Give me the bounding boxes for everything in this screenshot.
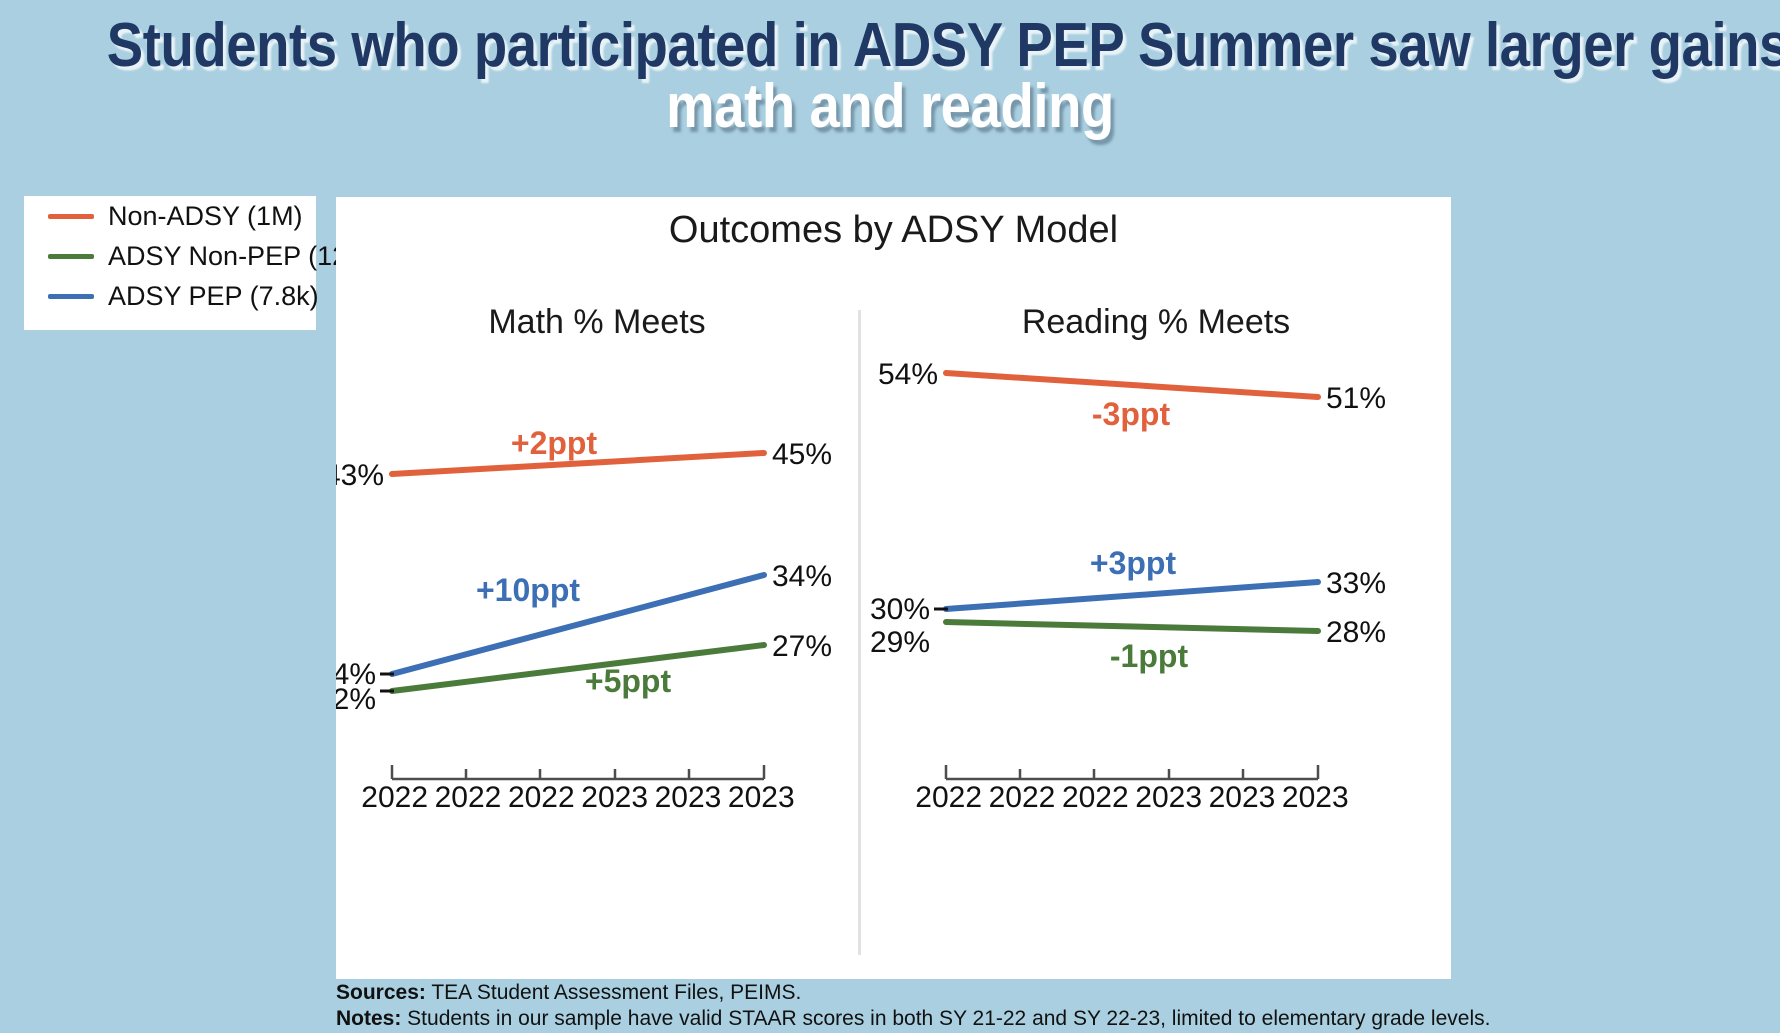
math-xtick-5: 2023	[725, 781, 798, 815]
reading-label-start-non-adsy: 54%	[878, 358, 938, 391]
reading-xtick-0: 2022	[912, 781, 985, 815]
legend-color-swatch-non-adsy	[48, 214, 94, 219]
math-label-start-non-adsy: 43%	[336, 459, 384, 492]
reading-plot-svg: 54% 51% 30% 33% 29% 28% -3ppt +3ppt -1pp…	[861, 197, 1451, 979]
math-delta-non-adsy: +2ppt	[511, 425, 598, 461]
reading-xtick-2: 2022	[1059, 781, 1132, 815]
reading-line-adsy-non-pep	[946, 622, 1318, 631]
reading-label-start-adsy-pep: 30%	[870, 593, 930, 626]
reading-line-adsy-pep	[946, 582, 1318, 609]
reading-axis-bracket	[946, 765, 1318, 779]
reading-label-end-adsy-pep: 33%	[1326, 567, 1386, 600]
reading-delta-adsy-pep: +3ppt	[1090, 545, 1177, 581]
math-xtick-4: 2023	[651, 781, 724, 815]
footnotes: Sources: TEA Student Assessment Files, P…	[336, 980, 1636, 1033]
reading-xtick-3: 2023	[1132, 781, 1205, 815]
math-label-end-adsy-pep: 34%	[772, 560, 832, 593]
legend-color-swatch-adsy-pep	[48, 294, 94, 299]
math-x-axis-labels: 202220222022202320232023	[358, 781, 798, 815]
math-xtick-2: 2022	[505, 781, 578, 815]
math-xtick-3: 2023	[578, 781, 651, 815]
math-label-end-adsy-non-pep: 27%	[772, 630, 832, 663]
reading-label-end-adsy-non-pep: 28%	[1326, 616, 1386, 649]
reading-xtick-4: 2023	[1205, 781, 1278, 815]
slide-title-line-1: Students who participated in ADSY PEP Su…	[107, 16, 1673, 77]
legend-item-adsy-pep[interactable]: ADSY PEP (7.8k)	[48, 276, 316, 316]
reading-delta-adsy-non-pep: -1ppt	[1110, 638, 1189, 674]
footnote-notes: Notes: Students in our sample have valid…	[336, 1006, 1636, 1032]
reading-xtick-1: 2022	[985, 781, 1058, 815]
subplot-math: Math % Meets 43% 45% 24% 34% 22% 27% +2p…	[336, 197, 858, 979]
footnote-sources-label: Sources:	[336, 981, 426, 1004]
math-line-adsy-non-pep	[392, 645, 764, 691]
math-xtick-0: 2022	[358, 781, 431, 815]
math-delta-adsy-non-pep: +5ppt	[585, 663, 672, 699]
math-xtick-1: 2022	[431, 781, 504, 815]
footnote-sources-text: TEA Student Assessment Files, PEIMS.	[426, 981, 801, 1004]
reading-label-end-non-adsy: 51%	[1326, 382, 1386, 415]
reading-x-axis-labels: 202220222022202320232023	[912, 781, 1352, 815]
reading-xtick-5: 2023	[1279, 781, 1352, 815]
legend-item-non-adsy[interactable]: Non-ADSY (1M)	[48, 196, 316, 236]
legend-item-adsy-non-pep[interactable]: ADSY Non-PEP (12k)	[48, 236, 316, 276]
legend-label-non-adsy: Non-ADSY (1M)	[108, 201, 303, 232]
legend-label-adsy-non-pep: ADSY Non-PEP (12k)	[108, 241, 370, 272]
math-label-start-adsy-non-pep: 22%	[336, 683, 376, 716]
subplot-reading: Reading % Meets 54% 51% 30% 33% 29% 28% …	[861, 197, 1451, 979]
math-plot-svg: 43% 45% 24% 34% 22% 27% +2ppt +10ppt +5p…	[336, 197, 858, 979]
math-label-end-non-adsy: 45%	[772, 438, 832, 471]
math-axis-bracket	[392, 765, 764, 779]
chart-panel: Outcomes by ADSY Model Math % Meets 43% …	[336, 197, 1451, 979]
footnote-sources: Sources: TEA Student Assessment Files, P…	[336, 980, 1636, 1006]
math-delta-adsy-pep: +10ppt	[476, 572, 580, 608]
slide-title: Students who participated in ADSY PEP Su…	[0, 16, 1780, 138]
chart-legend: Non-ADSY (1M) ADSY Non-PEP (12k) ADSY PE…	[24, 196, 316, 330]
reading-label-start-adsy-non-pep: 29%	[870, 626, 930, 659]
reading-line-non-adsy	[946, 373, 1318, 397]
legend-label-adsy-pep: ADSY PEP (7.8k)	[108, 281, 319, 312]
slide-title-line-2: math and reading	[107, 77, 1673, 138]
reading-delta-non-adsy: -3ppt	[1092, 396, 1171, 432]
footnote-notes-text: Students in our sample have valid STAAR …	[401, 1007, 1490, 1030]
legend-color-swatch-adsy-non-pep	[48, 254, 94, 259]
footnote-notes-label: Notes:	[336, 1007, 401, 1030]
